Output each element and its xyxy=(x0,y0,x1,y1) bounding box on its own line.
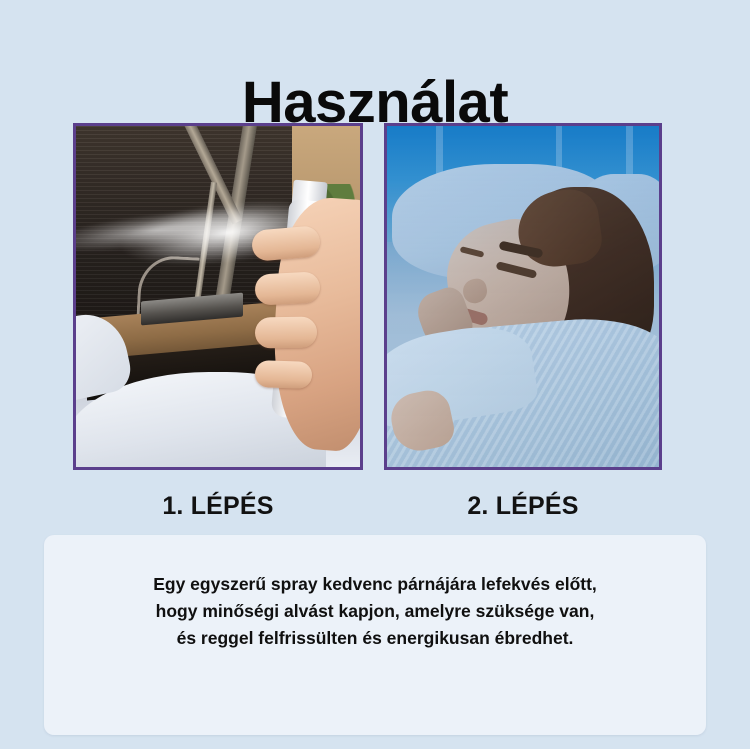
promo-page: Használat xyxy=(0,0,750,749)
description-line-2: hogy minőségi alvást kapjon, amelyre szü… xyxy=(72,598,678,625)
description-text: Egy egyszerű spray kedvenc párnájára lef… xyxy=(44,571,706,652)
description-line-3: és reggel felfrissülten és energikusan é… xyxy=(72,625,678,652)
description-panel: Egy egyszerű spray kedvenc párnájára lef… xyxy=(44,535,706,735)
hand-spraying-pillow-photo xyxy=(76,126,360,467)
step-2-image-frame xyxy=(384,123,662,470)
step-2-label: 2. LÉPÉS xyxy=(384,492,662,521)
step-1-image-frame xyxy=(73,123,363,470)
woman-sleeping-photo xyxy=(387,126,659,467)
description-line-1: Egy egyszerű spray kedvenc párnájára lef… xyxy=(72,571,678,598)
step-1-label: 1. LÉPÉS xyxy=(73,492,363,521)
